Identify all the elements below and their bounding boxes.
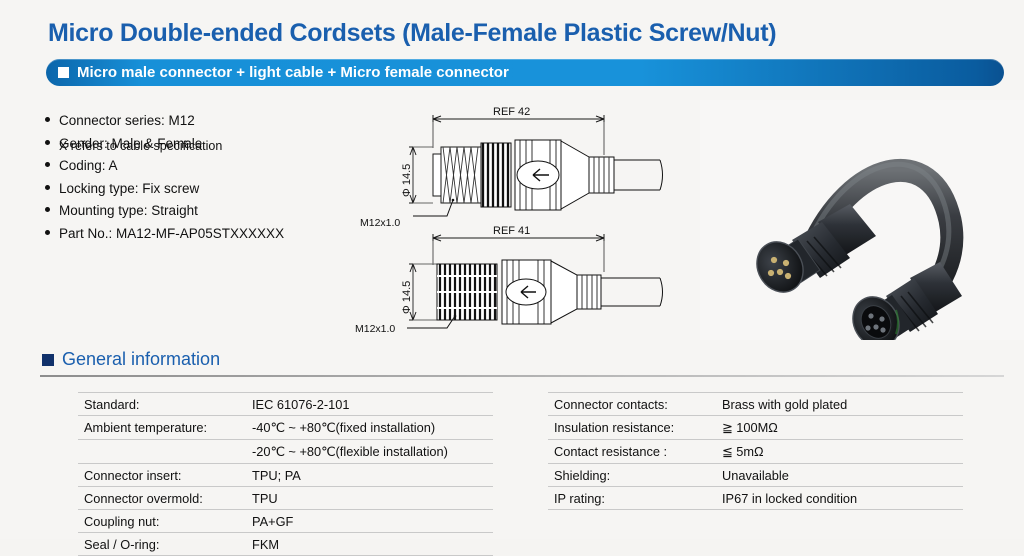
- female-ref-label: REF 41: [493, 225, 530, 237]
- list-item: Coding: A: [45, 158, 375, 173]
- row-key: Standard:: [78, 393, 250, 416]
- spec-label: Mounting type: Straight: [59, 203, 198, 218]
- row-key: Seal / O-ring:: [78, 533, 250, 556]
- list-item: Mounting type: Straight: [45, 203, 375, 218]
- row-value: Unavailable: [720, 464, 963, 487]
- table-row: Standard: IEC 61076-2-101: [78, 393, 493, 416]
- row-value: ≧ 100MΩ: [720, 416, 963, 440]
- spec-label: Coding: A: [59, 158, 118, 173]
- row-value: ≦ 5mΩ: [720, 440, 963, 464]
- general-information-table-right: Connector contacts: Brass with gold plat…: [548, 392, 963, 510]
- row-key: Connector overmold:: [78, 487, 250, 510]
- row-key: Connector contacts:: [548, 393, 720, 416]
- table-row: Connector insert: TPU; PA: [78, 464, 493, 487]
- table-row: IP rating: IP67 in locked condition: [548, 487, 963, 510]
- page-title: Micro Double-ended Cordsets (Male-Female…: [48, 19, 776, 48]
- row-value: IEC 61076-2-101: [250, 393, 493, 416]
- section-divider: [40, 375, 1004, 377]
- table-row: -20℃ ~ +80℃(flexible installation): [78, 440, 493, 464]
- general-information-label: General information: [62, 349, 220, 370]
- male-thread-label: M12x1.0: [360, 217, 400, 229]
- row-key: Coupling nut:: [78, 510, 250, 533]
- row-key: Shielding:: [548, 464, 720, 487]
- table-row: Insulation resistance: ≧ 100MΩ: [548, 416, 963, 440]
- table-row: Contact resistance : ≦ 5mΩ: [548, 440, 963, 464]
- bullet-dot-icon: [45, 117, 50, 122]
- list-item: Part No.: MA12-MF-AP05STXXXXXX: [45, 226, 375, 241]
- row-value: -40℃ ~ +80℃(fixed installation): [250, 416, 493, 440]
- bullet-dot-icon: [45, 162, 50, 167]
- row-key: Insulation resistance:: [548, 416, 720, 440]
- row-value: TPU: [250, 487, 493, 510]
- general-information-table-left: Standard: IEC 61076-2-101 Ambient temper…: [78, 392, 493, 556]
- table-row: Connector contacts: Brass with gold plat…: [548, 393, 963, 416]
- row-value: FKM: [250, 533, 493, 556]
- male-diameter-label: Φ 14.5: [401, 164, 413, 197]
- white-square-bullet-icon: [58, 67, 69, 78]
- technical-drawings: REF 42 Φ 14.5: [355, 100, 675, 335]
- row-key: [78, 440, 250, 464]
- row-value: -20℃ ~ +80℃(flexible installation): [250, 440, 493, 464]
- row-value: IP67 in locked condition: [720, 487, 963, 510]
- table-row: Connector overmold: TPU: [78, 487, 493, 510]
- cable-spec-note: X refers to cable specification: [59, 139, 222, 153]
- table-row: Shielding: Unavailable: [548, 464, 963, 487]
- row-key: IP rating:: [548, 487, 720, 510]
- general-information-heading: General information: [42, 349, 220, 370]
- bullet-dot-icon: [45, 140, 50, 145]
- female-diameter-label: Φ 14.5: [401, 281, 413, 314]
- spec-label: Locking type: Fix screw: [59, 181, 199, 196]
- spec-label: Connector series: M12: [59, 113, 195, 128]
- list-item: Connector series: M12: [45, 113, 375, 128]
- table-row: Ambient temperature: -40℃ ~ +80℃(fixed i…: [78, 416, 493, 440]
- datasheet-page: Micro Double-ended Cordsets (Male-Female…: [0, 0, 1024, 539]
- bullet-dot-icon: [45, 185, 50, 190]
- drawing-svg: REF 42 Φ 14.5: [355, 100, 675, 335]
- spec-label: Part No.: MA12-MF-AP05STXXXXXX: [59, 226, 284, 241]
- female-thread-label: M12x1.0: [355, 323, 395, 335]
- list-item: Locking type: Fix screw: [45, 181, 375, 196]
- product-banner: Micro male connector + light cable + Mic…: [46, 59, 1004, 86]
- row-value: PA+GF: [250, 510, 493, 533]
- product-photo: [700, 100, 1024, 340]
- row-key: Contact resistance :: [548, 440, 720, 464]
- bullet-dot-icon: [45, 207, 50, 212]
- blue-square-icon: [42, 354, 54, 366]
- bullet-dot-icon: [45, 230, 50, 235]
- table-row: Seal / O-ring: FKM: [78, 533, 493, 556]
- specification-list: Connector series: M12 Gender: Male & Fem…: [45, 113, 375, 248]
- row-value: Brass with gold plated: [720, 393, 963, 416]
- row-key: Ambient temperature:: [78, 416, 250, 440]
- male-ref-label: REF 42: [493, 106, 530, 118]
- row-key: Connector insert:: [78, 464, 250, 487]
- product-photo-svg: [700, 100, 1024, 340]
- banner-label: Micro male connector + light cable + Mic…: [77, 64, 509, 81]
- row-value: TPU; PA: [250, 464, 493, 487]
- table-row: Coupling nut: PA+GF: [78, 510, 493, 533]
